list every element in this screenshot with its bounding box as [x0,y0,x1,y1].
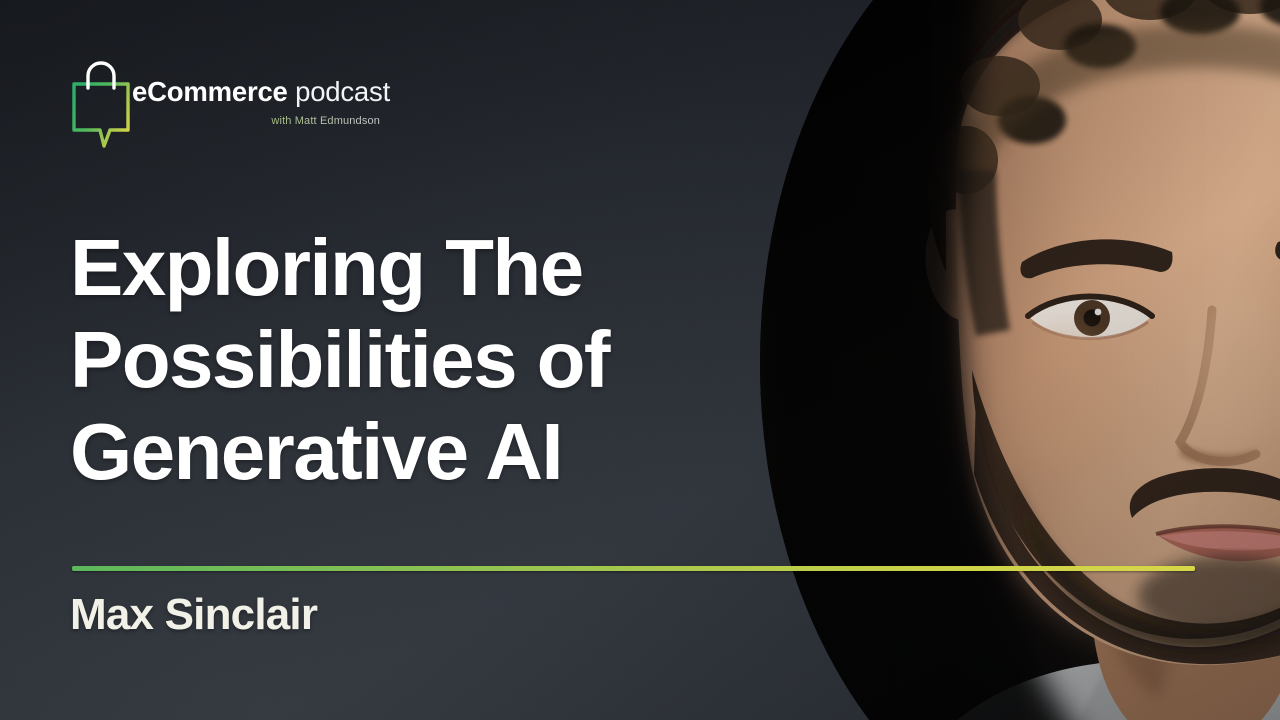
logo-tagline: with Matt Edmundson [132,115,382,127]
logo-brand-bold: eCommerce [132,76,288,107]
gradient-divider [72,566,1195,571]
logo-text: eCommerce podcast with Matt Edmundson [132,78,382,127]
logo-title: eCommerce podcast [132,78,382,106]
guest-portrait [760,0,1280,720]
podcast-logo-lockup[interactable]: eCommerce podcast with Matt Edmundson [70,58,380,154]
episode-title-line-1: Exploring The [70,222,750,314]
logo-brand-light: podcast [295,76,390,107]
episode-title-line-2: Possibilities of [70,314,750,406]
episode-title-line-3: Generative AI [70,406,750,498]
shopping-bag-speech-bubble-icon [70,60,132,152]
episode-title: Exploring The Possibilities of Generativ… [70,222,750,498]
podcast-episode-card: eCommerce podcast with Matt Edmundson Ex… [0,0,1280,720]
guest-name: Max Sinclair [70,593,317,637]
